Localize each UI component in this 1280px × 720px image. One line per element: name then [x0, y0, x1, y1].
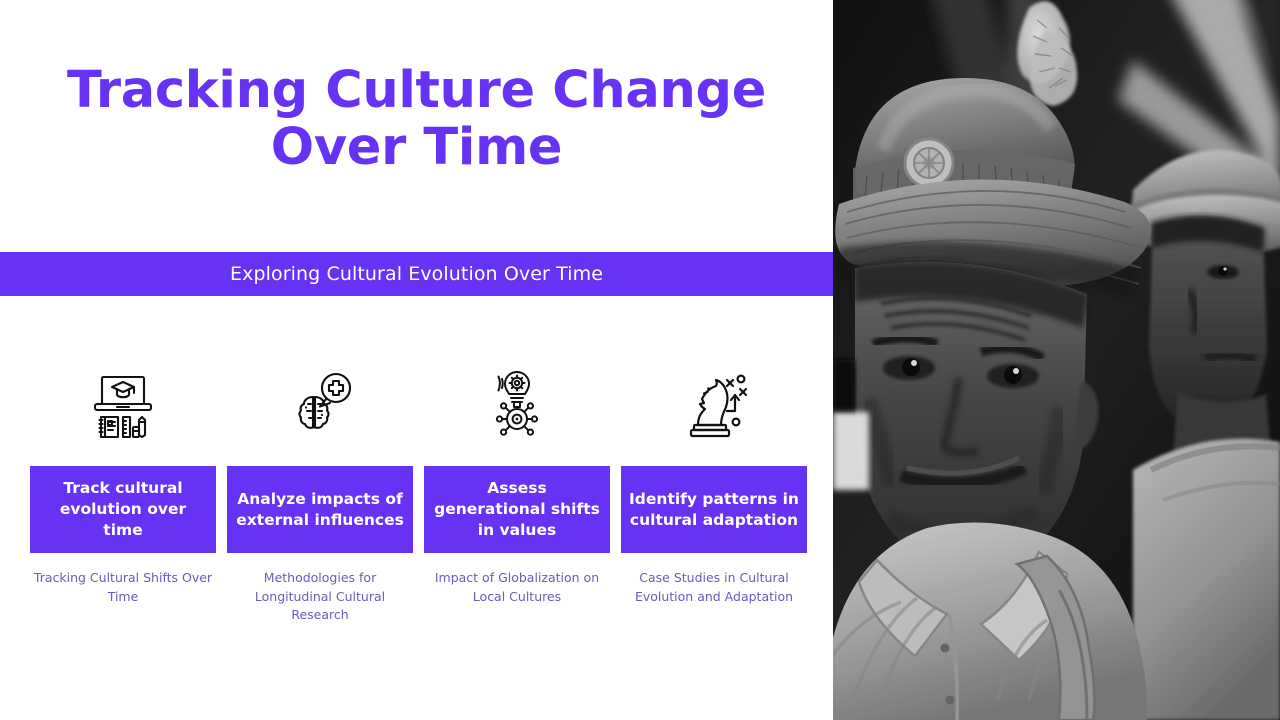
feature-card-label-3: Assess generational shifts in values — [432, 478, 602, 541]
black-and-white-photo-two-people-wearing-hats — [833, 0, 1280, 720]
feature-caption-4: Case Studies in Cultural Evolution and A… — [621, 569, 807, 606]
feature-column-4: Identify patterns in cultural adaptation… — [621, 360, 807, 625]
content-panel: Tracking Culture Change Over Time Explor… — [0, 0, 833, 720]
laptop-graduation-cap-icon — [80, 360, 166, 446]
subtitle-band: Exploring Cultural Evolution Over Time — [0, 252, 833, 296]
feature-card-4[interactable]: Identify patterns in cultural adaptation — [621, 466, 807, 553]
feature-caption-2: Methodologies for Longitudinal Cultural … — [227, 569, 413, 625]
feature-card-label-4: Identify patterns in cultural adaptation — [629, 489, 799, 531]
feature-card-2[interactable]: Analyze impacts of external influences — [227, 466, 413, 553]
feature-row: Track cultural evolution over time Track… — [30, 360, 809, 625]
feature-card-label-1: Track cultural evolution over time — [38, 478, 208, 541]
slide-root: Tracking Culture Change Over Time Explor… — [0, 0, 1280, 720]
lightbulb-gear-network-icon — [474, 360, 560, 446]
brain-speech-bubble-cross-icon — [277, 360, 363, 446]
feature-column-2: Analyze impacts of external influences M… — [227, 360, 413, 625]
page-title: Tracking Culture Change Over Time — [0, 62, 833, 176]
feature-column-3: Assess generational shifts in values Imp… — [424, 360, 610, 625]
chess-knight-strategy-icon — [671, 360, 757, 446]
feature-card-label-2: Analyze impacts of external influences — [235, 489, 405, 531]
feature-caption-3: Impact of Globalization on Local Culture… — [424, 569, 610, 606]
feature-column-1: Track cultural evolution over time Track… — [30, 360, 216, 625]
feature-card-1[interactable]: Track cultural evolution over time — [30, 466, 216, 553]
subtitle-text: Exploring Cultural Evolution Over Time — [230, 263, 603, 285]
photo-panel — [833, 0, 1280, 720]
feature-card-3[interactable]: Assess generational shifts in values — [424, 466, 610, 553]
feature-caption-1: Tracking Cultural Shifts Over Time — [30, 569, 216, 606]
